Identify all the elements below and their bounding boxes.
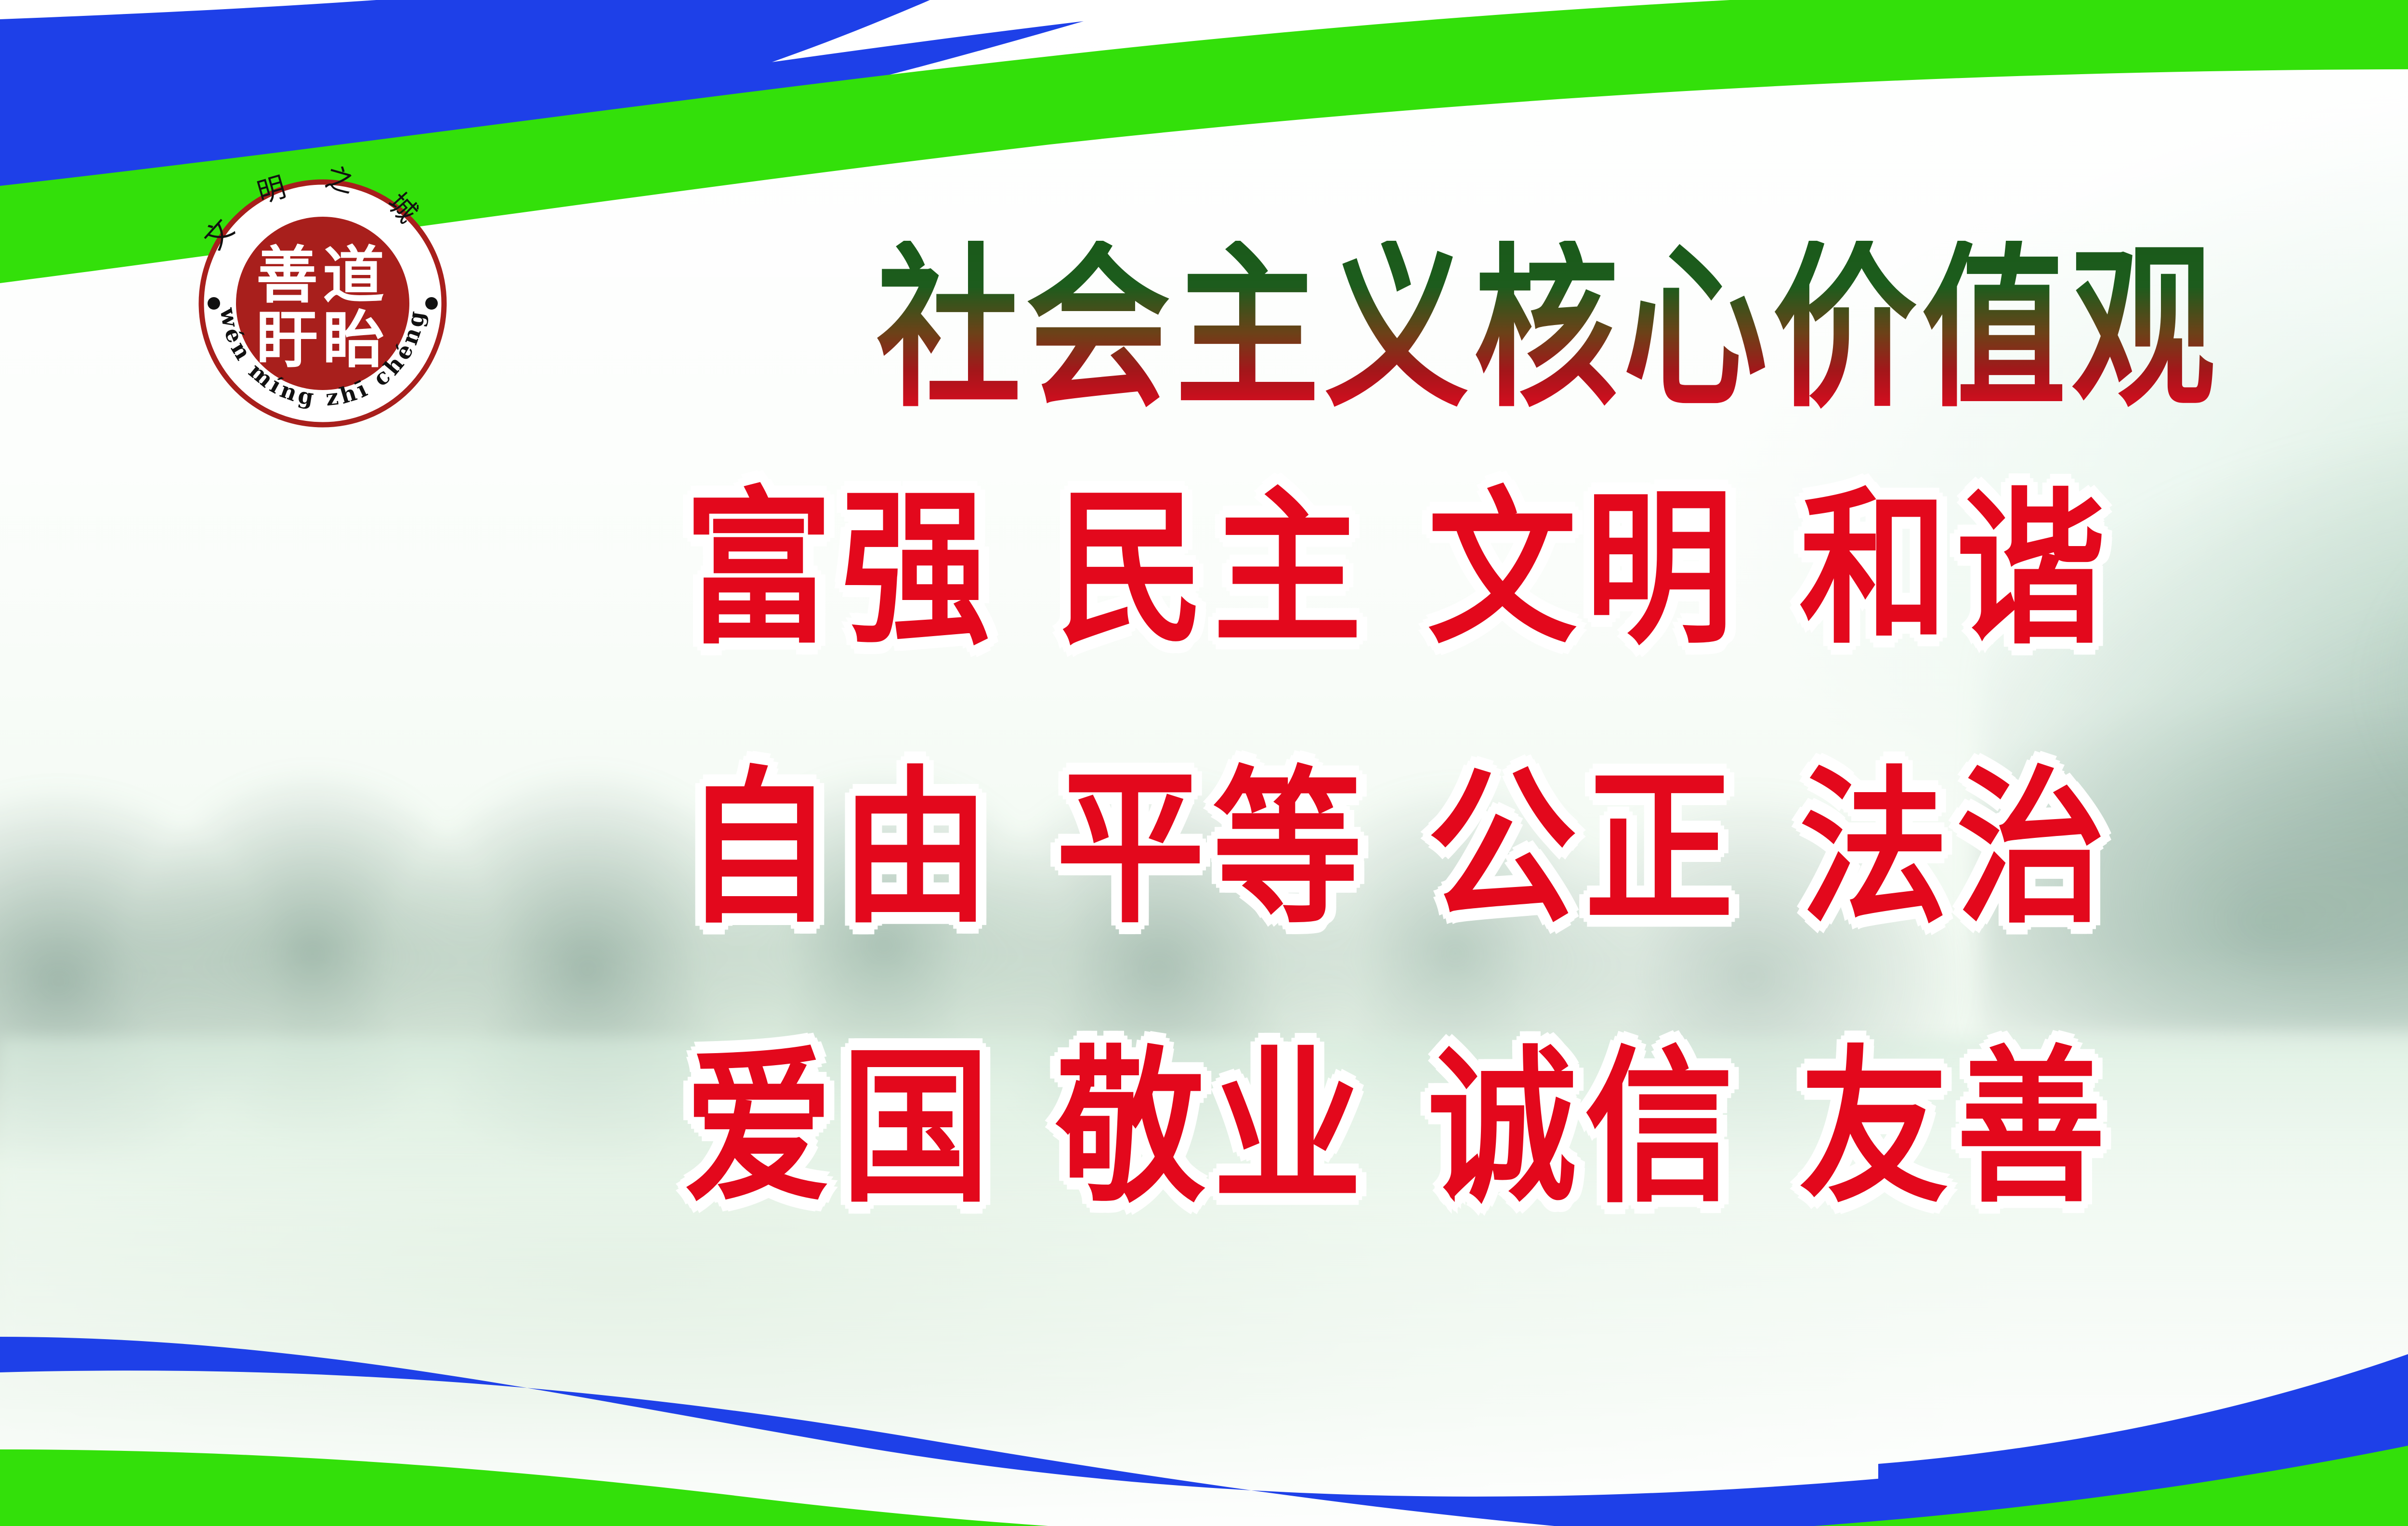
city-seal-logo[interactable]: 文明之城 善道 盱眙 wén míng zhī chéng: [178, 159, 467, 448]
seal-center-line-1: 善道: [256, 239, 389, 312]
seal-dot-right: [425, 297, 438, 310]
seal-dot-left: [208, 297, 220, 310]
right-blue-swoosh-ribbon: [1878, 655, 2408, 1521]
banner-board: 文明之城 善道 盱眙 wén míng zhī chéng 社会主义核心价值观 …: [0, 0, 2408, 1526]
seal-center-line-2: 盱眙: [256, 304, 389, 376]
